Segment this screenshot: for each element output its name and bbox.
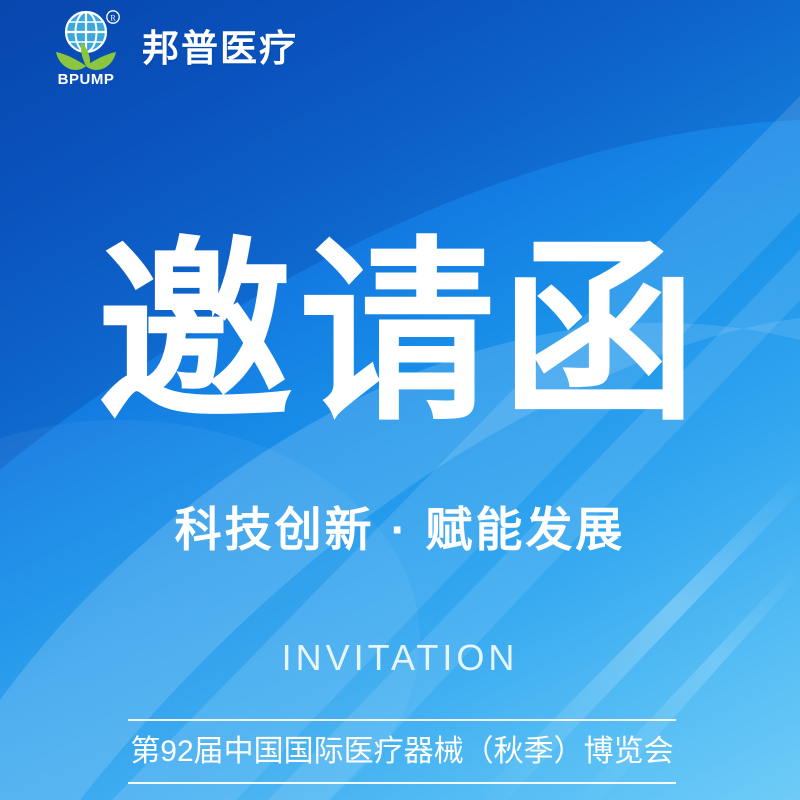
hero-content: 邀请函 科技创新 · 赋能发展 INVITATION (0, 0, 800, 800)
invitation-english-label: INVITATION (0, 640, 800, 676)
company-name: 邦普医疗 (142, 30, 298, 67)
logo-globe-icon (66, 12, 106, 52)
divider-top (128, 719, 676, 721)
invitation-poster: R BPUMP 邦普医疗 邀请函 科技创新 · 赋能发展 INVITATION … (0, 0, 800, 800)
svg-text:R: R (110, 13, 116, 22)
bpump-logo-icon: R BPUMP (44, 8, 128, 88)
brand-lockup: R BPUMP 邦普医疗 (44, 8, 298, 88)
footer-banner: 第92届中国国际医疗器械（秋季）博览会 (128, 719, 676, 784)
tagline: 科技创新 · 赋能发展 (0, 506, 800, 553)
divider-bottom (128, 782, 676, 784)
event-name: 第92届中国国际医疗器械（秋季）博览会 (128, 721, 676, 782)
bpump-wordmark-text: BPUMP (58, 71, 115, 88)
page-title: 邀请函 (0, 236, 800, 432)
registered-trademark-icon: R (107, 11, 119, 23)
